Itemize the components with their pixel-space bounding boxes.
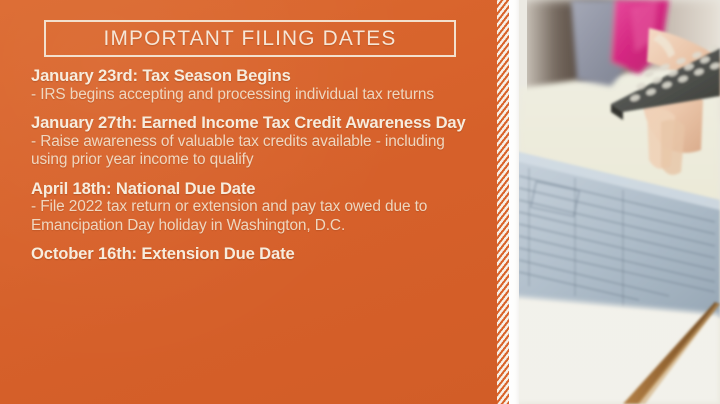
entry-heading: October 16th: Extension Due Date — [31, 244, 483, 264]
entry-heading: April 18th: National Due Date — [31, 179, 483, 199]
filing-dates-list: January 23rd: Tax Season Begins - IRS be… — [31, 66, 483, 264]
entry-detail: - File 2022 tax return or extension and … — [31, 198, 483, 235]
list-item: October 16th: Extension Due Date — [31, 244, 483, 264]
list-item: April 18th: National Due Date - File 202… — [31, 179, 483, 236]
entry-heading: January 23rd: Tax Season Begins — [31, 66, 483, 86]
photo-calculator-tax-form — [519, 0, 720, 404]
diagonal-stripe-divider — [497, 0, 509, 404]
divider-gap — [509, 0, 519, 404]
page-title: IMPORTANT FILING DATES — [104, 26, 397, 51]
entry-heading: January 27th: Earned Income Tax Credit A… — [31, 113, 483, 133]
photo-illustration — [519, 0, 720, 404]
list-item: January 23rd: Tax Season Begins - IRS be… — [31, 66, 483, 104]
entry-detail: - IRS begins accepting and processing in… — [31, 86, 483, 105]
list-item: January 27th: Earned Income Tax Credit A… — [31, 113, 483, 170]
entry-detail: - Raise awareness of valuable tax credit… — [31, 133, 483, 170]
info-panel: IMPORTANT FILING DATES January 23rd: Tax… — [0, 0, 497, 404]
title-box: IMPORTANT FILING DATES — [44, 20, 456, 57]
filing-dates-graphic: IMPORTANT FILING DATES January 23rd: Tax… — [0, 0, 720, 404]
